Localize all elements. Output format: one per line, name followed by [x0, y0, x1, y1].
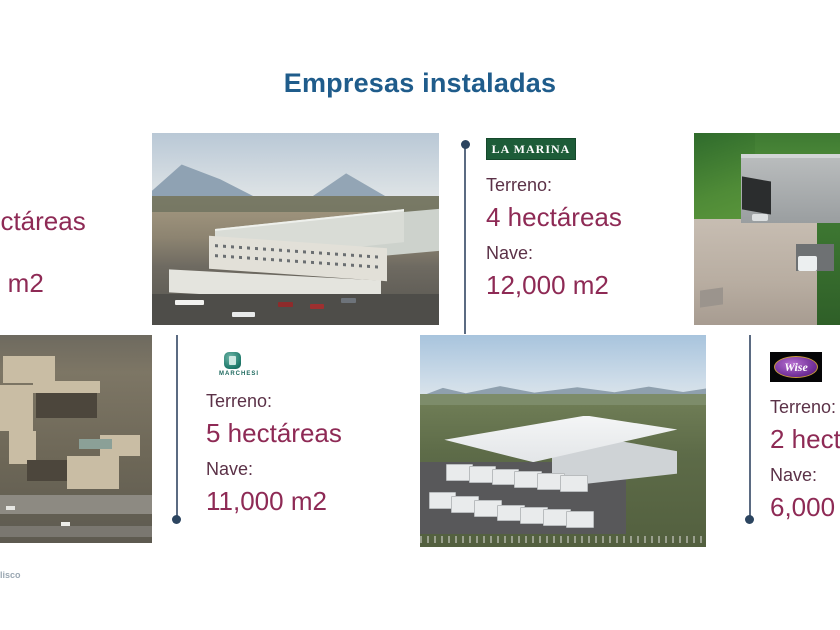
- page-title: Empresas instaladas: [0, 68, 840, 99]
- entry-wise: Wise Terreno: 2 hect Nave: 6,000: [770, 352, 840, 525]
- entry-marchesi-terreno-label: Terreno:: [206, 390, 342, 413]
- connector-dot-wise: [745, 515, 754, 524]
- slide-canvas: Empresas instaladas: [0, 0, 840, 630]
- entry-wise-terreno-label: Terreno:: [770, 396, 840, 419]
- marchesi-logo-text: MARCHESI: [206, 371, 272, 377]
- connector-dot-marchesi: [172, 515, 181, 524]
- entry-left-nave-value: 0 m2: [0, 267, 86, 301]
- entry-wise-terreno-value: 2 hect: [770, 423, 840, 457]
- entry-la-marina-nave-value: 12,000 m2: [486, 269, 622, 303]
- entry-marchesi-nave-value: 11,000 m2: [206, 485, 342, 519]
- entry-marchesi: MARCHESI Terreno: 5 hectáreas Nave: 11,0…: [206, 352, 342, 519]
- entry-wise-nave-value: 6,000: [770, 491, 840, 525]
- entry-marchesi-nave-label: Nave:: [206, 458, 342, 481]
- la-marina-logo: LA MARINA: [486, 138, 576, 160]
- entry-left-cutoff: ectáreas 0 m2: [0, 205, 86, 301]
- marchesi-logo: MARCHESI: [206, 352, 272, 382]
- entry-left-terreno-value: ectáreas: [0, 205, 86, 239]
- photo-distribution-center: [420, 335, 706, 547]
- entry-la-marina-terreno-label: Terreno:: [486, 174, 622, 197]
- wise-logo: Wise: [770, 352, 822, 382]
- entry-wise-nave-label: Nave:: [770, 464, 840, 487]
- marchesi-emblem-icon: [224, 352, 241, 369]
- connector-line-marchesi: [176, 335, 178, 520]
- photo-plant-aerial: [0, 335, 152, 543]
- photo-warehouse-complex: [152, 133, 439, 325]
- connector-dot-la-marina: [461, 140, 470, 149]
- entry-la-marina-nave-label: Nave:: [486, 242, 622, 265]
- entry-marchesi-terreno-value: 5 hectáreas: [206, 417, 342, 451]
- footer-text: lisco: [0, 570, 21, 580]
- entry-la-marina-terreno-value: 4 hectáreas: [486, 201, 622, 235]
- photo-gray-warehouse: [694, 133, 840, 325]
- entry-la-marina: LA MARINA Terreno: 4 hectáreas Nave: 12,…: [486, 138, 622, 303]
- connector-line-la-marina: [464, 146, 466, 334]
- wise-logo-text: Wise: [774, 356, 818, 378]
- connector-line-wise: [749, 335, 751, 520]
